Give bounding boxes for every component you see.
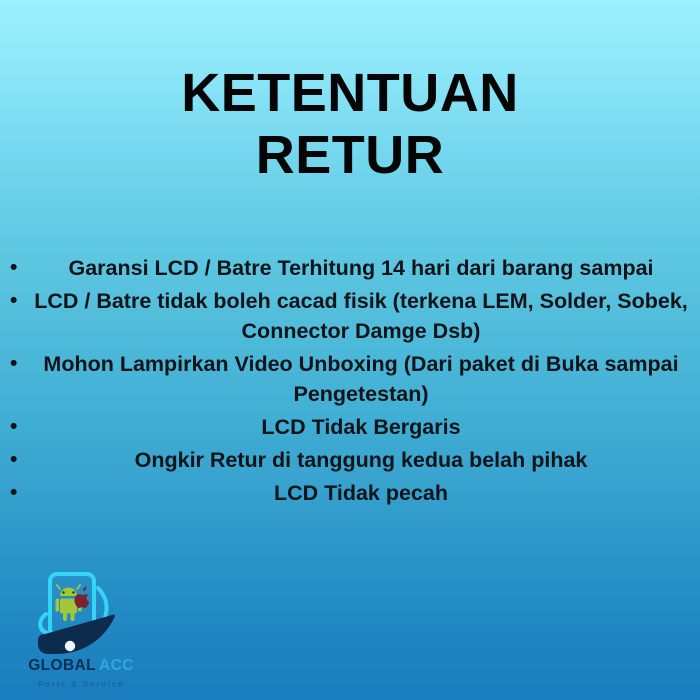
list-item: • Ongkir Retur di tanggung kedua belah p…	[0, 445, 700, 475]
page-title-line-1: KETENTUAN	[0, 62, 700, 124]
bullet-icon: •	[10, 445, 22, 475]
list-item: • LCD Tidak Bergaris	[0, 412, 700, 442]
logo-word-acc: ACC	[99, 657, 134, 674]
list-item: • LCD / Batre tidak boleh cacad fisik (t…	[0, 286, 700, 346]
list-item-label: Mohon Lampirkan Video Unboxing (Dari pak…	[30, 349, 692, 409]
bullet-icon: •	[10, 253, 22, 283]
list-item-label: LCD Tidak Bergaris	[30, 412, 692, 442]
list-item-label: LCD Tidak pecah	[30, 478, 692, 508]
page-title: KETENTUAN RETUR	[0, 62, 700, 186]
logo-word-global: GLOBAL	[28, 657, 96, 674]
poster-canvas: KETENTUAN RETUR • Garansi LCD / Batre Te…	[0, 0, 700, 700]
list-item-label: LCD / Batre tidak boleh cacad fisik (ter…	[30, 286, 692, 346]
page-title-line-2: RETUR	[0, 124, 700, 186]
terms-list: • Garansi LCD / Batre Terhitung 14 hari …	[0, 253, 700, 511]
list-item: • Mohon Lampirkan Video Unboxing (Dari p…	[0, 349, 700, 409]
list-item-label: Garansi LCD / Batre Terhitung 14 hari da…	[30, 253, 692, 283]
list-item-label: Ongkir Retur di tanggung kedua belah pih…	[30, 445, 692, 475]
list-item: • Garansi LCD / Batre Terhitung 14 hari …	[0, 253, 700, 283]
logo-tagline: Parts & Service	[16, 679, 146, 689]
list-item: • LCD Tidak pecah	[0, 478, 700, 508]
logo-wordmark: GLOBALACC	[16, 657, 146, 675]
phone-android-apple-logo-icon	[26, 570, 126, 666]
brand-logo: GLOBALACC Parts & Service	[8, 570, 148, 692]
bullet-icon: •	[10, 349, 22, 379]
bullet-icon: •	[10, 286, 22, 316]
bullet-icon: •	[10, 478, 22, 508]
bullet-icon: •	[10, 412, 22, 442]
